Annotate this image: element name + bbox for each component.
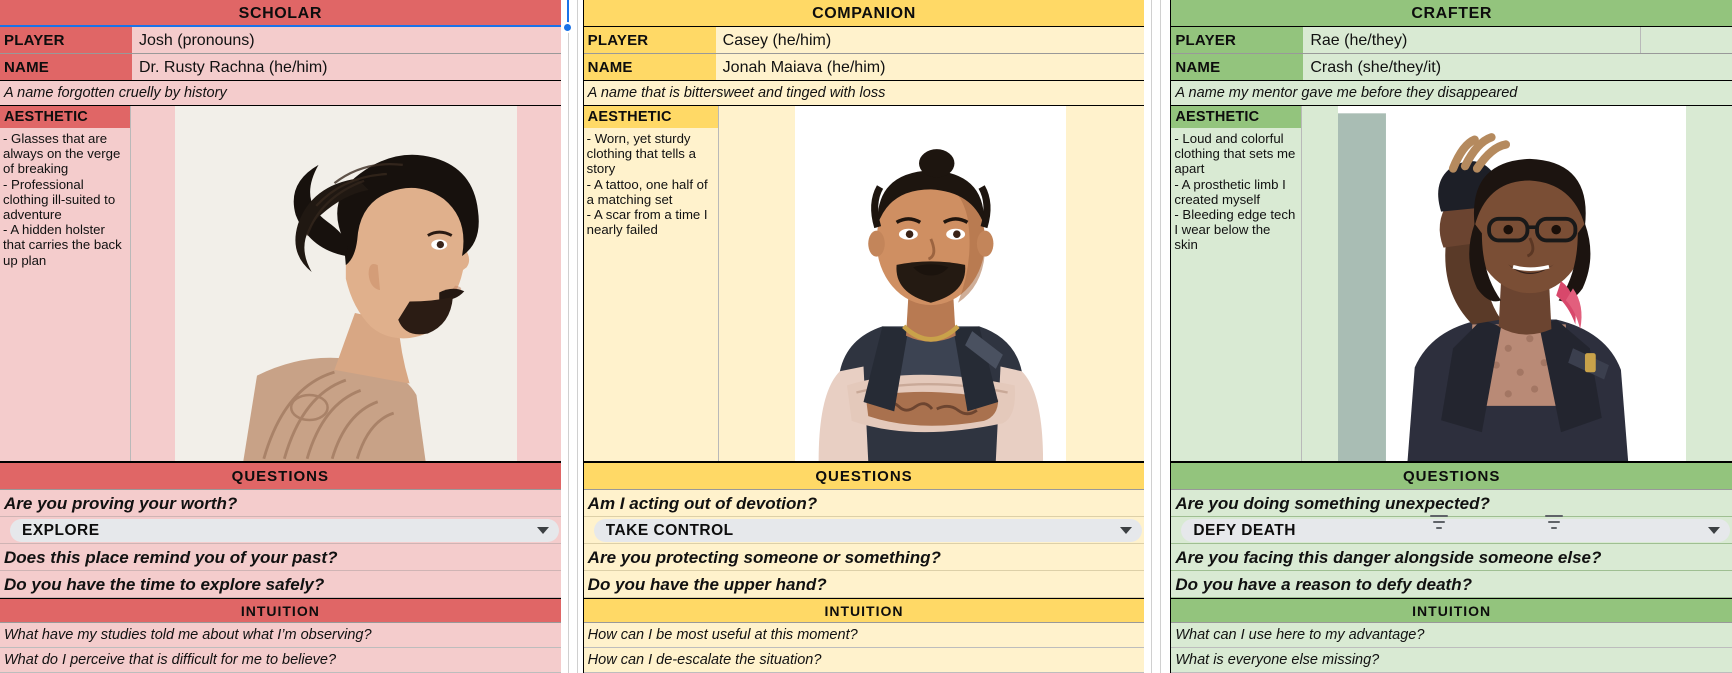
- player-row-spacer-cell[interactable]: [1640, 27, 1732, 53]
- chevron-down-icon[interactable]: [537, 527, 549, 534]
- character-sheet-board: SCHOLAR PLAYER Josh (pronouns) NAME Dr. …: [0, 0, 1732, 673]
- action-dropdown-crafter[interactable]: DEFY DEATH: [1181, 519, 1730, 542]
- player-label-scholar: PLAYER: [0, 27, 132, 53]
- aesthetic-portrait-band-scholar: AESTHETIC - Glasses that are always on t…: [0, 106, 561, 463]
- player-row-scholar: PLAYER Josh (pronouns): [0, 27, 561, 54]
- name-value-scholar[interactable]: Dr. Rusty Rachna (he/him): [132, 54, 561, 80]
- aesthetic-text-crafter[interactable]: - Loud and colorful clothing that sets m…: [1171, 128, 1301, 461]
- action-dropdown-companion[interactable]: TAKE CONTROL: [594, 519, 1143, 542]
- player-value-companion[interactable]: Casey (he/him): [716, 27, 1145, 53]
- filter-handle-icon[interactable]: [1543, 515, 1565, 529]
- portrait-art-crafter: [1338, 106, 1686, 461]
- intuition-label-scholar: INTUITION: [0, 598, 561, 623]
- action-dropdown-value-companion: TAKE CONTROL: [606, 522, 1121, 540]
- name-row-companion: NAME Jonah Maiava (he/him): [584, 54, 1145, 81]
- grid-line: [577, 0, 578, 673]
- aesthetic-label-companion: AESTHETIC: [584, 106, 718, 128]
- player-row-crafter: PLAYER Rae (he/they): [1171, 27, 1732, 54]
- action-dropdown-row-companion[interactable]: TAKE CONTROL: [584, 517, 1145, 544]
- intuition-label-crafter: INTUITION: [1171, 598, 1732, 623]
- aesthetic-portrait-band-crafter: AESTHETIC - Loud and colorful clothing t…: [1171, 106, 1732, 463]
- intuition-1-scholar[interactable]: What have my studies told me about what …: [0, 623, 561, 648]
- action-dropdown-row-crafter[interactable]: DEFY DEATH: [1171, 517, 1732, 544]
- name-value-crafter[interactable]: Crash (she/they/it): [1303, 54, 1732, 80]
- name-row-scholar: NAME Dr. Rusty Rachna (he/him): [0, 54, 561, 81]
- name-row-crafter: NAME Crash (she/they/it): [1171, 54, 1732, 81]
- question-2-companion[interactable]: Are you protecting someone or something?: [584, 544, 1145, 571]
- column-title-crafter: CRAFTER: [1171, 0, 1732, 27]
- question-2-crafter[interactable]: Are you facing this danger alongside som…: [1171, 544, 1732, 571]
- name-label-scholar: NAME: [0, 54, 132, 80]
- question-1-companion[interactable]: Am I acting out of devotion?: [584, 490, 1145, 517]
- action-dropdown-row-scholar[interactable]: EXPLORE: [0, 517, 561, 544]
- question-2-scholar[interactable]: Does this place remind you of your past?: [0, 544, 561, 571]
- portrait-art-companion: [795, 106, 1067, 461]
- player-value-scholar[interactable]: Josh (pronouns): [132, 27, 561, 53]
- portrait-pad-right: [517, 106, 561, 461]
- intuition-2-companion[interactable]: How can I de-escalate the situation?: [584, 648, 1145, 673]
- questions-label-scholar: QUESTIONS: [0, 463, 561, 490]
- question-3-companion[interactable]: Do you have the upper hand?: [584, 571, 1145, 598]
- questions-label-crafter: QUESTIONS: [1171, 463, 1732, 490]
- portrait-companion: [719, 106, 1145, 461]
- portrait-pad-right: [1686, 106, 1732, 461]
- portrait-scholar: [131, 106, 561, 461]
- name-value-companion[interactable]: Jonah Maiava (he/him): [716, 54, 1145, 80]
- character-column-companion: COMPANION PLAYER Casey (he/him) NAME Jon…: [583, 0, 1145, 673]
- character-column-scholar: SCHOLAR PLAYER Josh (pronouns) NAME Dr. …: [0, 0, 561, 673]
- aesthetic-text-scholar[interactable]: - Glasses that are always on the verge o…: [0, 128, 130, 461]
- column-gutter-2: [1144, 0, 1170, 673]
- aesthetic-text-companion[interactable]: - Worn, yet sturdy clothing that tells a…: [584, 128, 718, 461]
- intuition-2-scholar[interactable]: What do I perceive that is difficult for…: [0, 648, 561, 673]
- tagline-crafter[interactable]: A name my mentor gave me before they dis…: [1171, 81, 1732, 106]
- intuition-label-companion: INTUITION: [584, 598, 1145, 623]
- tagline-companion[interactable]: A name that is bittersweet and tinged wi…: [584, 81, 1145, 106]
- portrait-pad-right: [1066, 106, 1144, 461]
- aesthetic-label-scholar: AESTHETIC: [0, 106, 130, 128]
- column-gutter-1: [561, 0, 583, 673]
- aesthetic-label-crafter: AESTHETIC: [1171, 106, 1301, 128]
- player-label-crafter: PLAYER: [1171, 27, 1303, 53]
- action-dropdown-value-scholar: EXPLORE: [22, 522, 537, 540]
- tagline-scholar[interactable]: A name forgotten cruelly by history: [0, 81, 561, 106]
- portrait-crafter: [1302, 106, 1732, 461]
- grid-line: [1151, 0, 1152, 673]
- chevron-down-icon[interactable]: [1120, 527, 1132, 534]
- aesthetic-block-crafter: AESTHETIC - Loud and colorful clothing t…: [1171, 106, 1302, 461]
- name-label-crafter: NAME: [1171, 54, 1303, 80]
- aesthetic-portrait-band-companion: AESTHETIC - Worn, yet sturdy clothing th…: [584, 106, 1145, 463]
- aesthetic-block-companion: AESTHETIC - Worn, yet sturdy clothing th…: [584, 106, 719, 461]
- portrait-pad-left: [719, 106, 795, 461]
- cell-selection-handle[interactable]: [562, 22, 573, 33]
- portrait-pad-left: [1302, 106, 1338, 461]
- portrait-pad-left: [131, 106, 175, 461]
- question-1-scholar[interactable]: Are you proving your worth?: [0, 490, 561, 517]
- player-value-crafter[interactable]: Rae (he/they): [1303, 27, 1640, 53]
- chevron-down-icon[interactable]: [1708, 527, 1720, 534]
- action-dropdown-scholar[interactable]: EXPLORE: [10, 519, 559, 542]
- action-dropdown-value-crafter: DEFY DEATH: [1193, 522, 1708, 540]
- intuition-1-crafter[interactable]: What can I use here to my advantage?: [1171, 623, 1732, 648]
- questions-label-companion: QUESTIONS: [584, 463, 1145, 490]
- intuition-2-crafter[interactable]: What is everyone else missing?: [1171, 648, 1732, 673]
- player-row-companion: PLAYER Casey (he/him): [584, 27, 1145, 54]
- portrait-art-scholar: [175, 106, 517, 461]
- filter-handle-icon[interactable]: [1428, 515, 1450, 529]
- column-title-scholar: SCHOLAR: [0, 0, 561, 27]
- question-1-crafter[interactable]: Are you doing something unexpected?: [1171, 490, 1732, 517]
- intuition-1-companion[interactable]: How can I be most useful at this moment?: [584, 623, 1145, 648]
- grid-line: [1160, 0, 1161, 673]
- question-3-crafter[interactable]: Do you have a reason to defy death?: [1171, 571, 1732, 598]
- player-label-companion: PLAYER: [584, 27, 716, 53]
- aesthetic-block-scholar: AESTHETIC - Glasses that are always on t…: [0, 106, 131, 461]
- column-title-companion: COMPANION: [584, 0, 1145, 27]
- question-3-scholar[interactable]: Do you have the time to explore safely?: [0, 571, 561, 598]
- character-column-crafter: CRAFTER PLAYER Rae (he/they) NAME Crash …: [1170, 0, 1732, 673]
- grid-line: [568, 0, 569, 673]
- name-label-companion: NAME: [584, 54, 716, 80]
